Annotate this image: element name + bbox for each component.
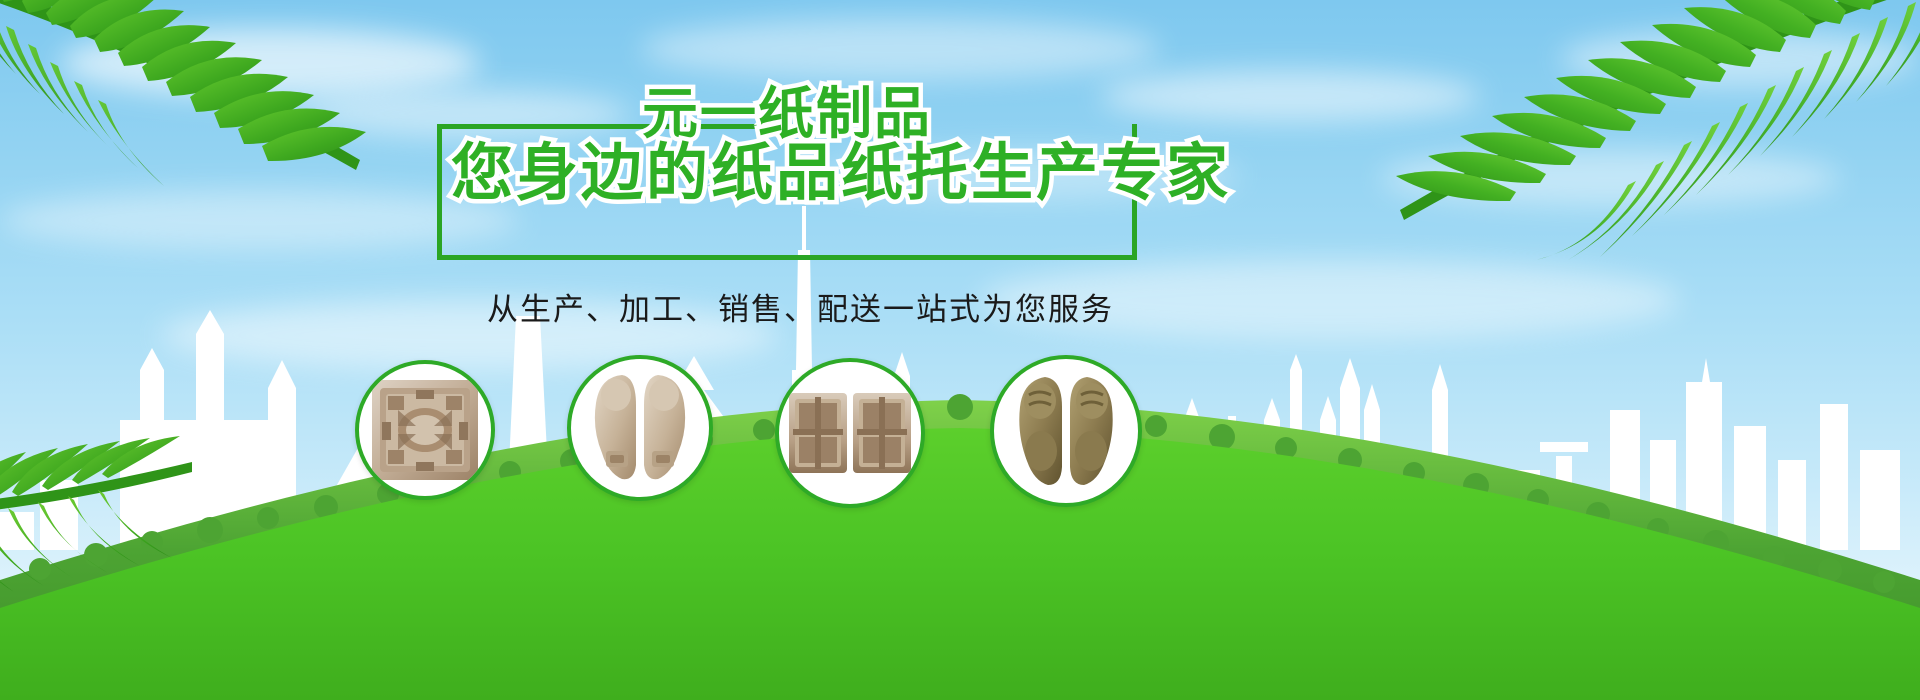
headline-title: 您身边的纸品纸托生产专家 <box>451 140 1231 206</box>
product-circle-shoe-shaper-pulp-pair[interactable]: 鞋撑纸托 <box>990 355 1142 507</box>
product-circle-shoe-insole-pulp-pair[interactable]: 鞋托纸托 <box>567 355 713 501</box>
cloud-icon <box>640 18 1160 80</box>
headline-block: 元一纸制品 您身边的纸品纸托生产专家 <box>437 88 1137 228</box>
promo-banner: 元一纸制品 您身边的纸品纸托生产专家 从生产、加工、销售、配送一站式为您服务 <box>0 0 1920 700</box>
product-circle-square-pulp-tray[interactable]: 方形纸托 <box>355 360 495 500</box>
palm-frond-icon <box>0 0 380 270</box>
palm-frond-icon <box>1290 0 1920 260</box>
palm-frond-icon <box>0 380 230 640</box>
frame-left-rule <box>437 124 442 256</box>
green-hill <box>0 280 1920 700</box>
product-circle-pulp-packaging-pair[interactable]: 包装纸托 <box>775 358 925 508</box>
frame-bottom-rule <box>437 255 1137 260</box>
banner-subtitle: 从生产、加工、销售、配送一站式为您服务 <box>487 284 1114 329</box>
